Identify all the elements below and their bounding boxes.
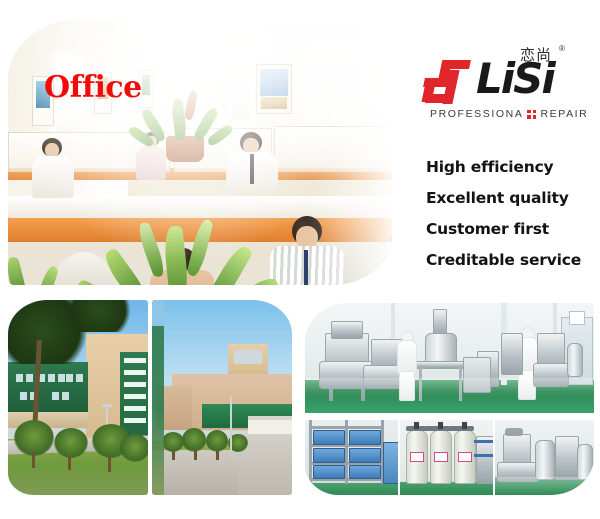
cross-icon (527, 110, 536, 119)
logo-chinese-name: 恋尚 (520, 44, 552, 65)
production-workshop-photo: Production workshop (305, 303, 594, 413)
feature-item: Excellent quality (426, 189, 596, 207)
company-logo: LiSi 恋尚 ® PROFESSIONA REPAIR (424, 46, 596, 136)
feature-item: High efficiency (426, 158, 596, 176)
workshop-photo-machinery (495, 420, 594, 495)
tagline-left-text: PROFESSIONA (430, 108, 523, 120)
tagline-right-text: REPAIR (540, 108, 588, 120)
factory-photo-1: Factory (8, 300, 148, 495)
feature-item: Creditable service (426, 251, 596, 269)
feature-item: Customer first (426, 220, 596, 238)
workshop-photo-water-treatment (400, 420, 493, 495)
office-photo: Office (8, 20, 392, 285)
feature-list: High efficiency Excellent quality Custom… (426, 158, 596, 282)
registered-trademark-icon: ® (559, 44, 565, 53)
factory-photo-2 (152, 300, 292, 495)
company-profile-banner: Office (0, 0, 600, 519)
workshop-photo-crates (305, 420, 398, 495)
logo-tagline: PROFESSIONA REPAIR (430, 108, 588, 120)
